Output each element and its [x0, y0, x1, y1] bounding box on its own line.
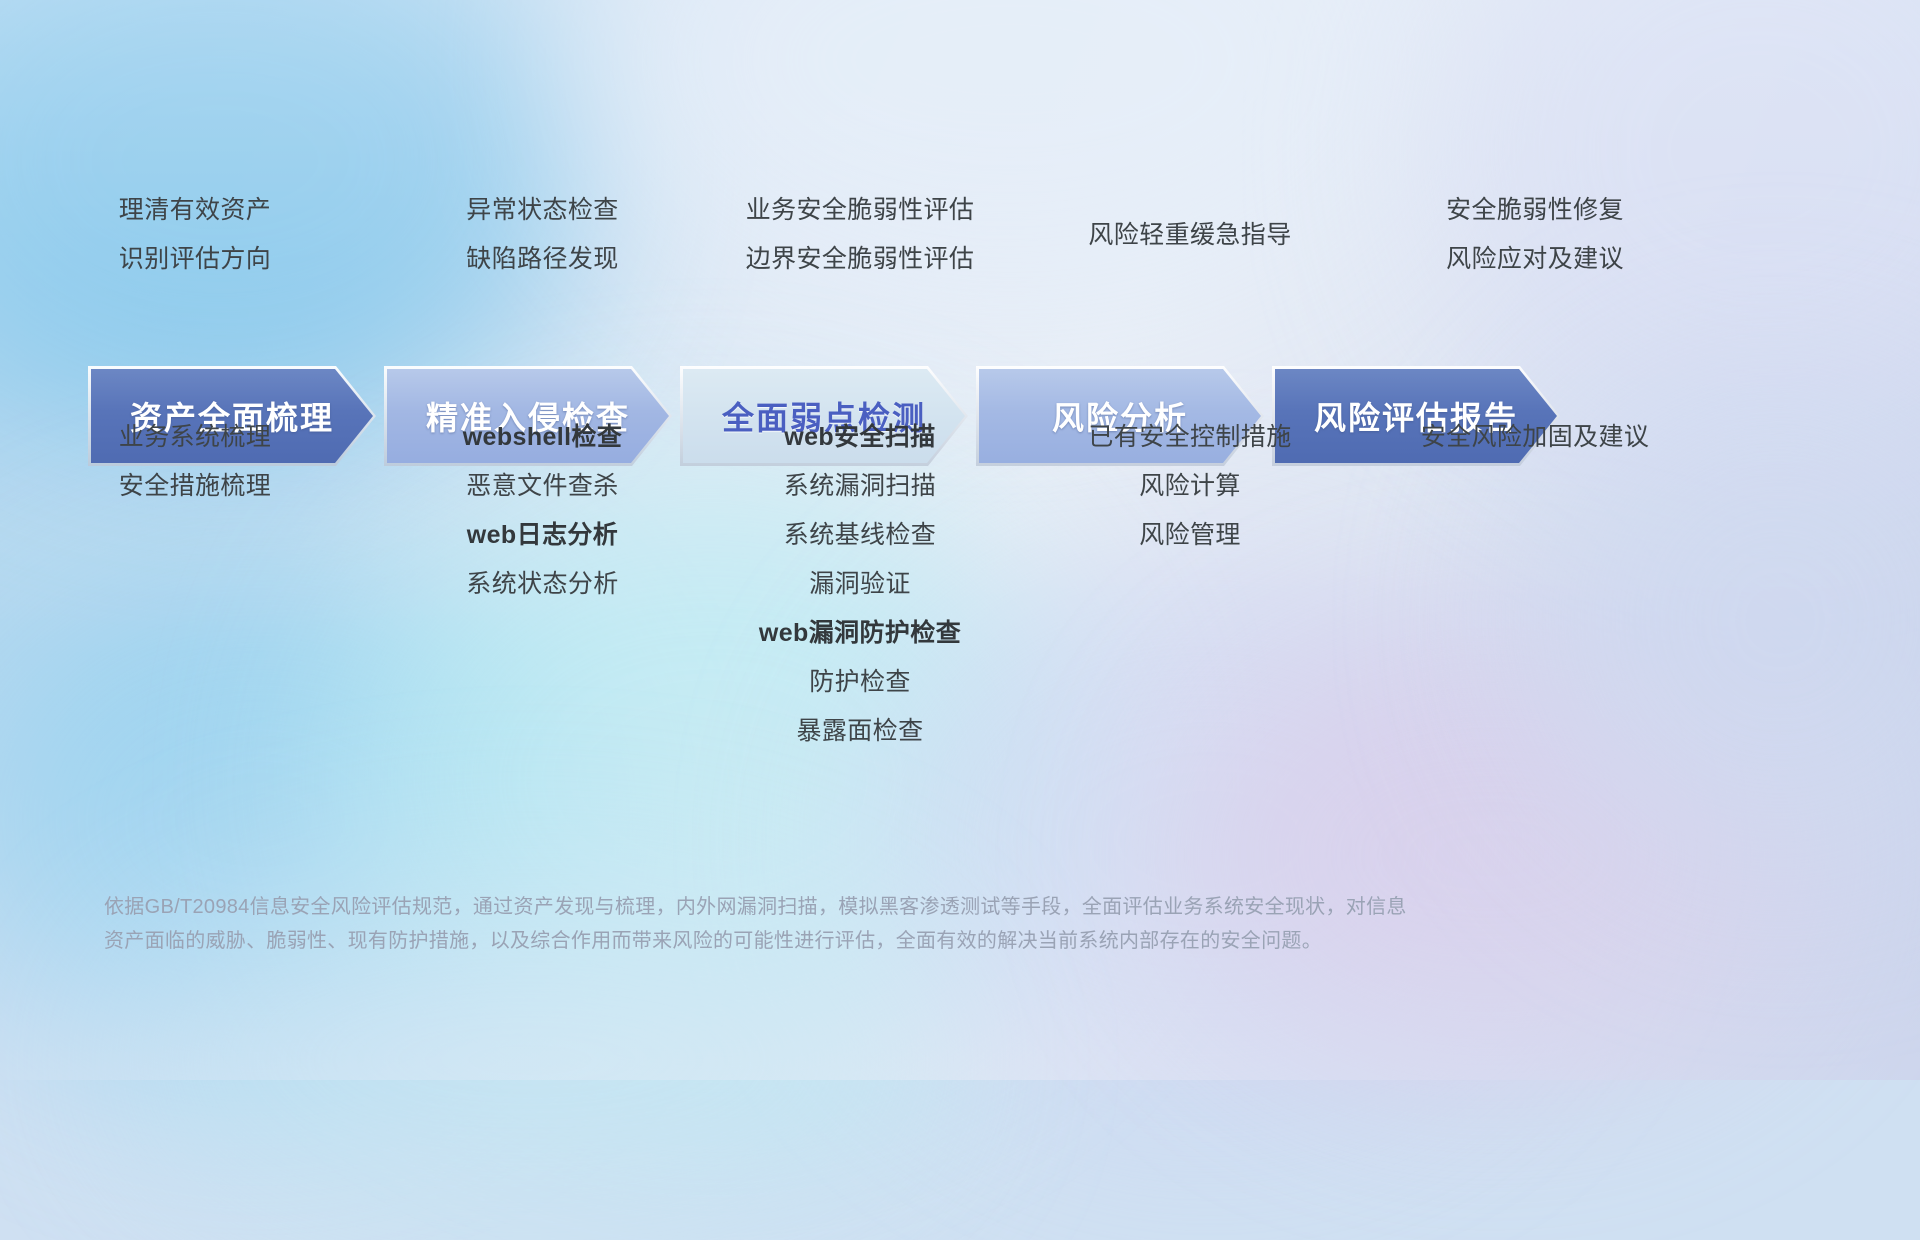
- caption-line: 系统状态分析: [466, 560, 618, 609]
- caption-line: 业务安全脆弱性评估: [746, 186, 975, 235]
- caption-line: 安全脆弱性修复: [1446, 186, 1624, 235]
- caption-line: 系统漏洞扫描: [784, 462, 936, 511]
- caption-line: 漏洞验证: [809, 560, 911, 609]
- top-caption-row: 理清有效资产 识别评估方向 异常状态检查 缺陷路径发现 业务安全脆弱性评估 边界…: [0, 186, 1920, 284]
- caption-line: 业务系统梳理: [119, 413, 271, 462]
- caption-line: 风险应对及建议: [1446, 235, 1624, 284]
- footer-line-2: 资产面临的威胁、脆弱性、现有防护措施，以及综合作用而带来风险的可能性进行评估，全…: [104, 924, 1604, 958]
- caption-line: webshell检查: [463, 413, 623, 462]
- caption-line: 暴露面检查: [796, 707, 923, 756]
- caption-line: 已有安全控制措施: [1088, 413, 1291, 462]
- caption-line: web漏洞防护检查: [759, 609, 961, 658]
- top-captions-stage-4: 风险轻重缓急指导: [1025, 186, 1355, 284]
- caption-line: web安全扫描: [784, 413, 935, 462]
- caption-line: web日志分析: [467, 511, 618, 560]
- bottom-captions-stage-4: 已有安全控制措施 风险计算 风险管理: [1025, 413, 1355, 756]
- bottom-captions-stage-1: 业务系统梳理 安全措施梳理: [0, 413, 390, 756]
- caption-line: 缺陷路径发现: [466, 235, 618, 284]
- top-captions-stage-2: 异常状态检查 缺陷路径发现: [390, 186, 695, 284]
- caption-line: 风险计算: [1139, 462, 1241, 511]
- footer-line-1: 依据GB/T20984信息安全风险评估规范，通过资产发现与梳理，内外网漏洞扫描，…: [104, 890, 1604, 924]
- caption-line: 风险管理: [1139, 511, 1241, 560]
- caption-line: 异常状态检查: [466, 186, 618, 235]
- top-captions-stage-5: 安全脆弱性修复 风险应对及建议: [1355, 186, 1715, 284]
- caption-line: 安全措施梳理: [119, 462, 271, 511]
- caption-line: 防护检查: [809, 658, 911, 707]
- caption-line: 边界安全脆弱性评估: [746, 235, 975, 284]
- caption-line: 风险轻重缓急指导: [1088, 211, 1291, 260]
- top-captions-stage-3: 业务安全脆弱性评估 边界安全脆弱性评估: [695, 186, 1025, 284]
- bottom-captions-stage-5: 安全风险加固及建议: [1355, 413, 1715, 756]
- caption-line: 理清有效资产: [119, 186, 271, 235]
- bottom-captions-stage-2: webshell检查 恶意文件查杀 web日志分析 系统状态分析: [390, 413, 695, 756]
- caption-line: 系统基线检查: [784, 511, 936, 560]
- process-diagram: 理清有效资产 识别评估方向 异常状态检查 缺陷路径发现 业务安全脆弱性评估 边界…: [0, 0, 1920, 1080]
- caption-line: 安全风险加固及建议: [1421, 413, 1650, 462]
- bottom-captions-stage-3: web安全扫描 系统漏洞扫描 系统基线检查 漏洞验证 web漏洞防护检查 防护检…: [695, 413, 1025, 756]
- caption-line: 恶意文件查杀: [466, 462, 618, 511]
- caption-line: 识别评估方向: [119, 235, 271, 284]
- top-captions-stage-1: 理清有效资产 识别评估方向: [0, 186, 390, 284]
- bottom-caption-row: 业务系统梳理 安全措施梳理 webshell检查 恶意文件查杀 web日志分析 …: [0, 413, 1920, 756]
- footer-description: 依据GB/T20984信息安全风险评估规范，通过资产发现与梳理，内外网漏洞扫描，…: [104, 890, 1604, 958]
